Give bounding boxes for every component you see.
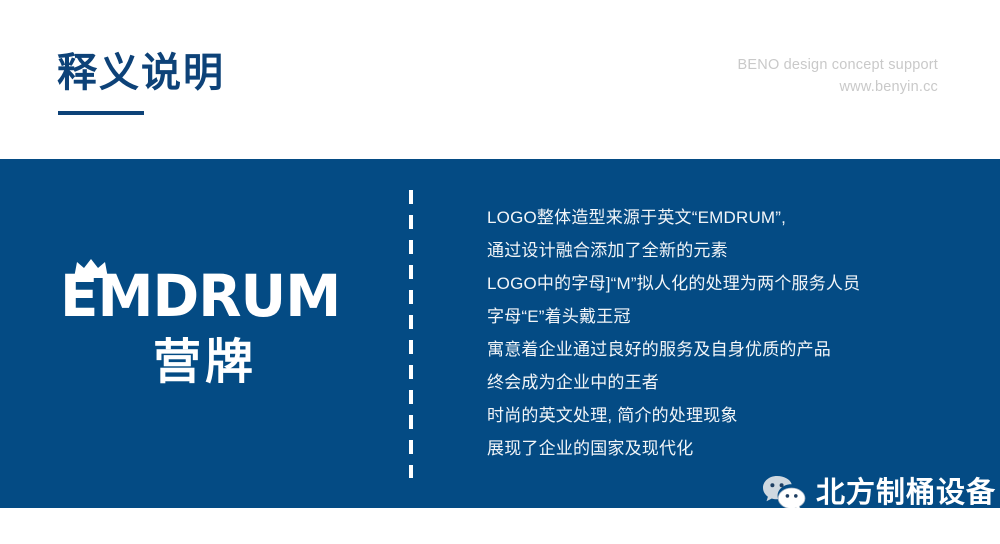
dashed-divider bbox=[409, 190, 413, 478]
description-line: 终会成为企业中的王者 bbox=[487, 366, 957, 399]
wechat-watermark: 北方制桶设备 bbox=[762, 475, 996, 508]
description-line: 时尚的英文处理, 简介的处理现象 bbox=[487, 399, 957, 432]
description-line: LOGO整体造型来源于英文“EMDRUM”, bbox=[487, 201, 957, 234]
title-underline bbox=[58, 111, 144, 115]
credit-line-2: www.benyin.cc bbox=[738, 76, 938, 98]
wechat-icon bbox=[762, 475, 806, 508]
logo-block: EMDRUM 营牌 bbox=[0, 259, 410, 459]
page-title: 释义说明 bbox=[57, 50, 225, 96]
description-line: 字母“E”着头戴王冠 bbox=[487, 300, 957, 333]
credit-line-1: BENO design concept support bbox=[738, 57, 938, 73]
blue-content-panel: EMDRUM 营牌 LOGO整体造型来源于英文“EMDRUM”, 通过设计融合添… bbox=[0, 159, 1000, 508]
logo-wordmark: EMDRUM bbox=[60, 259, 350, 321]
slide-canvas: 释义说明 BENO design concept support www.ben… bbox=[0, 0, 1000, 544]
description-block: LOGO整体造型来源于英文“EMDRUM”, 通过设计融合添加了全新的元素 LO… bbox=[487, 201, 957, 465]
logo-chinese-name: 营牌 bbox=[0, 337, 410, 389]
logo-wordmark-text: EMDRUM bbox=[60, 267, 341, 325]
description-line: 寓意着企业通过良好的服务及自身优质的产品 bbox=[487, 333, 957, 366]
description-line: 通过设计融合添加了全新的元素 bbox=[487, 234, 957, 267]
watermark-label: 北方制桶设备 bbox=[816, 476, 996, 508]
description-line: 展现了企业的国家及现代化 bbox=[487, 432, 957, 465]
header-credit: BENO design concept support www.benyin.c… bbox=[738, 54, 938, 98]
description-line: LOGO中的字母]“M”拟人化的处理为两个服务人员 bbox=[487, 267, 957, 300]
